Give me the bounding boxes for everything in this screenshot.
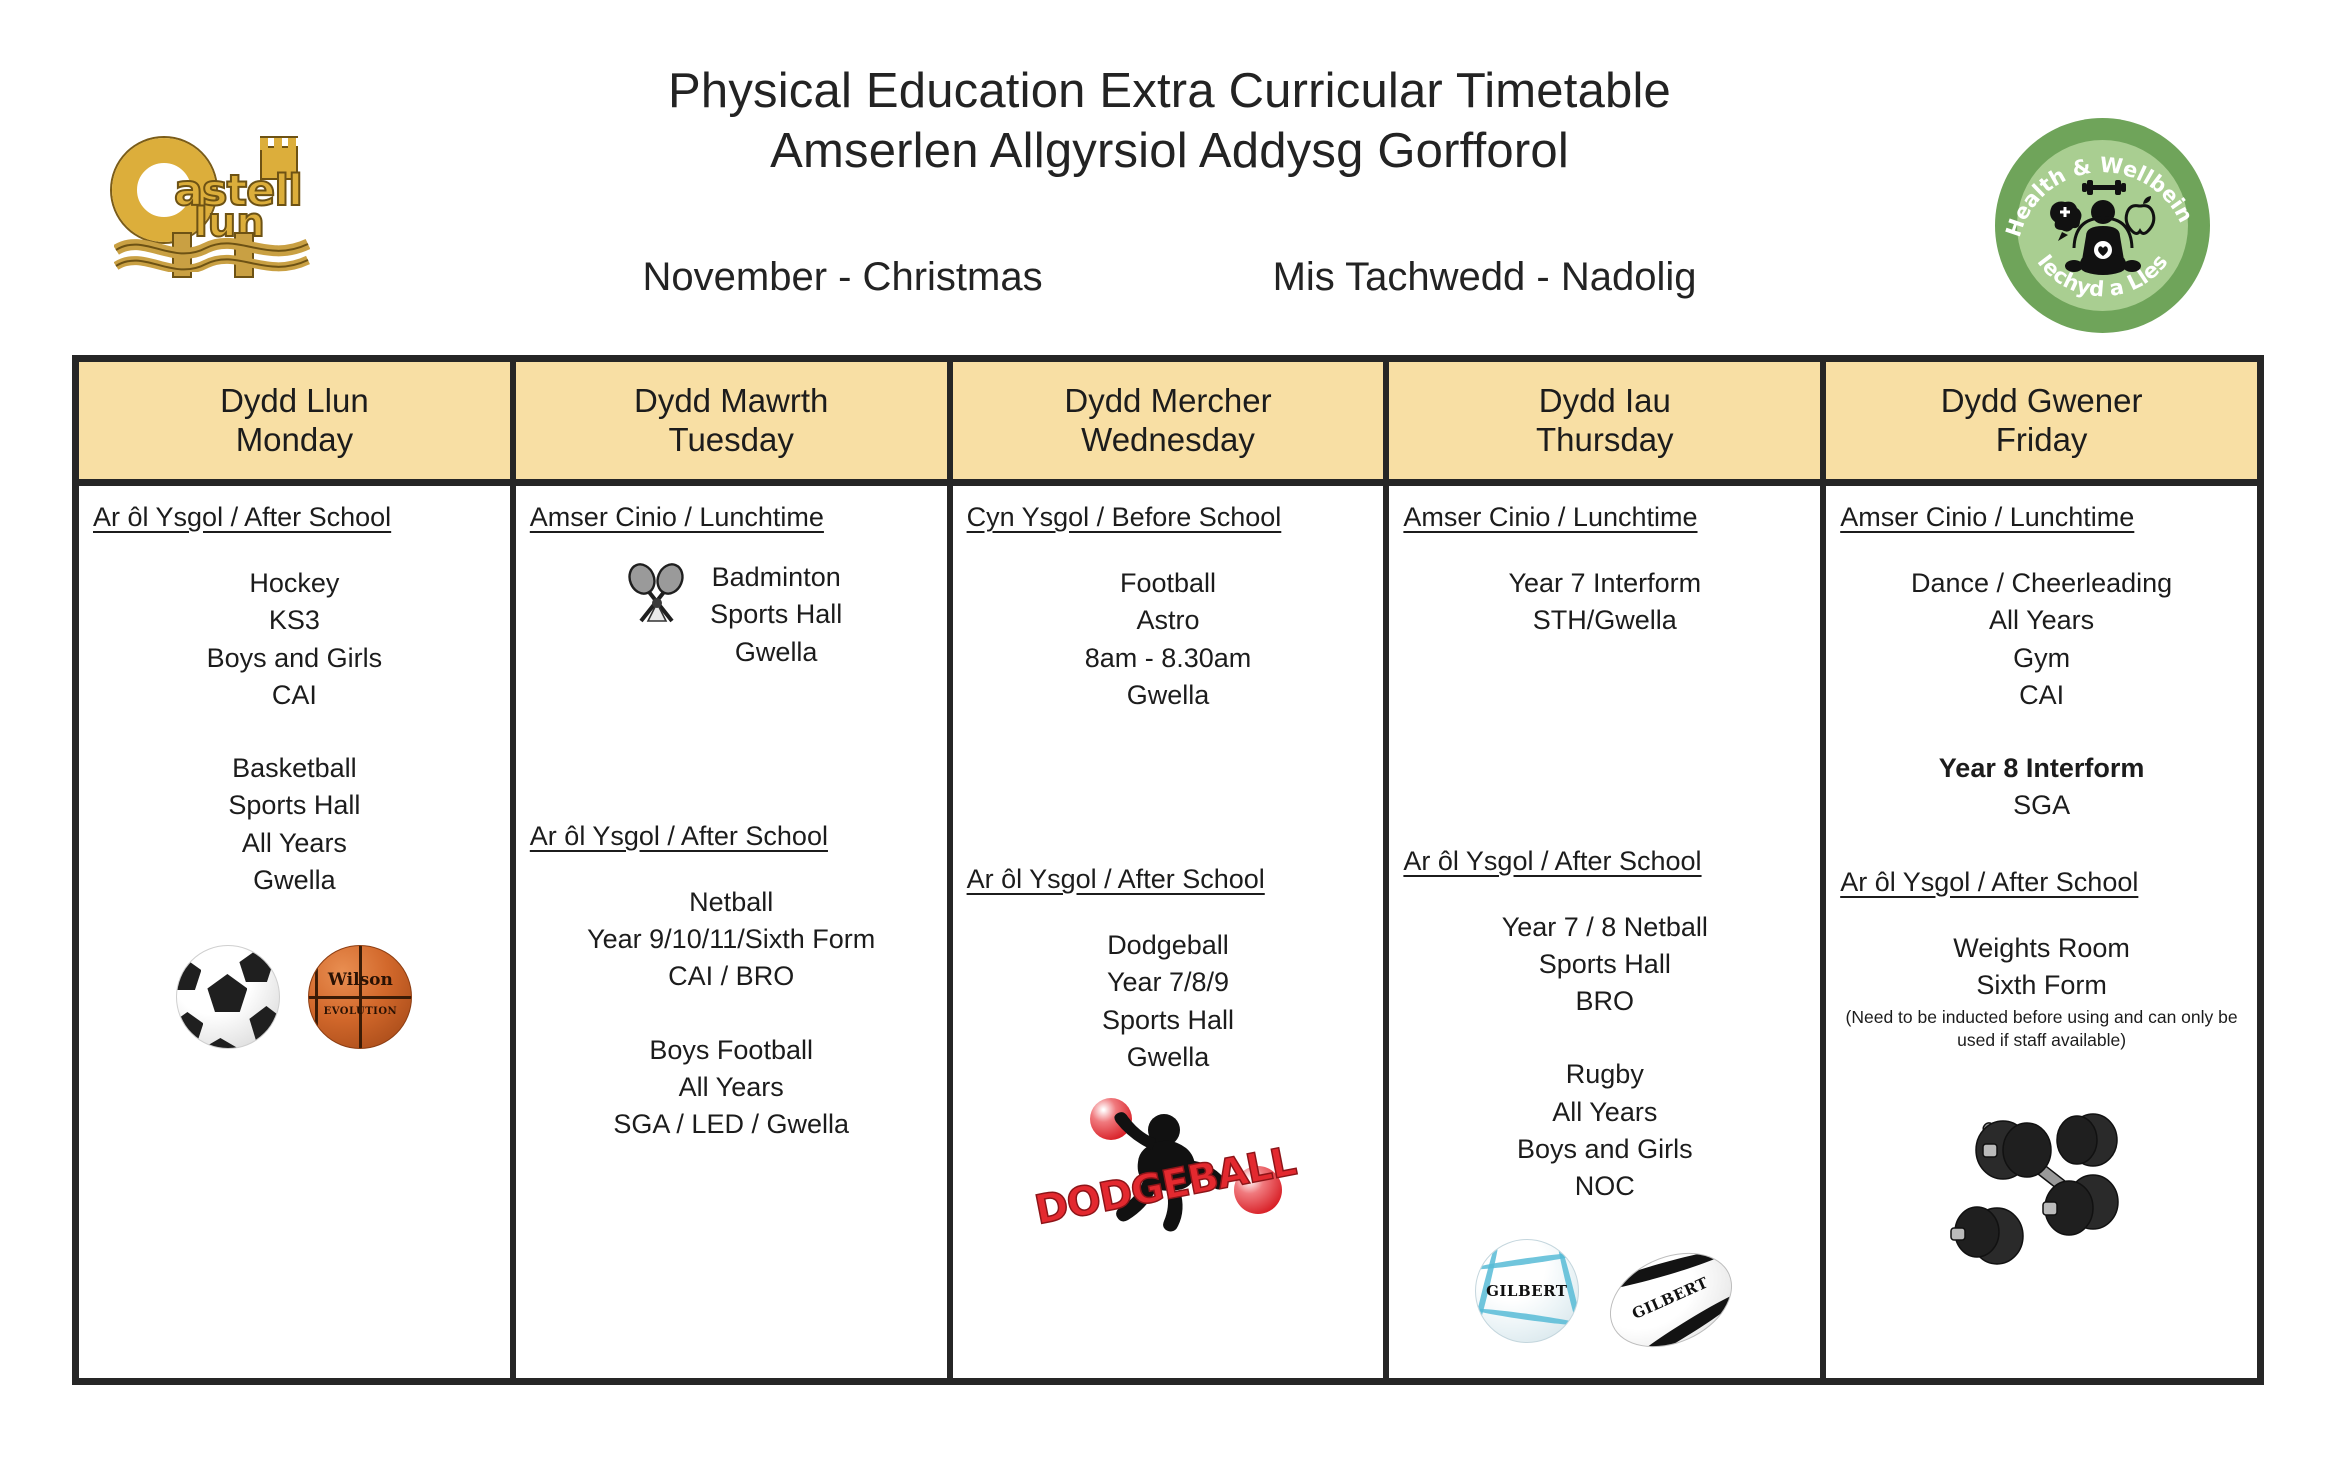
activity-years: All Years [89,825,500,862]
activity-name: Rugby [1399,1056,1810,1093]
activity-venue: Sports Hall [89,787,500,824]
timetable-grid: Dydd Llun Monday Dydd Mawrth Tuesday Dyd… [72,355,2264,1385]
weights-room-note: (Need to be inducted before using and ca… [1836,1006,2247,1052]
meditating-person-icon [2044,176,2162,286]
section-heading-after-school: Ar ôl Ysgol / After School [89,502,500,533]
day-column-friday: Amser Cinio / Lunchtime Dance / Cheerlea… [1826,486,2257,1378]
activity-name: Basketball [89,750,500,787]
day-name-en: Wednesday [1081,421,1255,459]
day-name-cy: Dydd Llun [220,382,369,420]
badminton-rackets-icon [620,559,694,633]
rugby-ball-image: GILBERT [1595,1235,1747,1366]
activity-staff: SGA / LED / Gwella [526,1106,937,1143]
activity-year7-interform: Year 7 Interform STH/Gwella [1399,565,1810,640]
section-heading-lunchtime: Amser Cinio / Lunchtime [526,502,937,533]
day-column-tuesday: Amser Cinio / Lunchtime [516,486,953,1378]
ball-brand-wilson: Wilson [309,970,411,990]
activity-badminton: Badminton Sports Hall Gwella [526,559,937,671]
activity-netball: Netball Year 9/10/11/Sixth Form CAI / BR… [526,884,937,996]
activity-dance-cheerleading: Dance / Cheerleading All Years Gym CAI [1836,565,2247,714]
activity-name: Year 7 / 8 Netball [1399,909,1810,946]
section-heading-before-school: Cyn Ysgol / Before School [963,502,1374,533]
day-name-cy: Dydd Mawrth [634,382,828,420]
ball-brand-gilbert: GILBERT [1476,1282,1578,1300]
page-header: astell lun Physical Education Extra Curr… [0,0,2339,350]
apple-icon [2126,196,2154,234]
activity-name: Football [963,565,1374,602]
day-name-cy: Dydd Gwener [1941,382,2143,420]
activity-football: Football Astro 8am - 8.30am Gwella [963,565,1374,714]
day-name-cy: Dydd Mercher [1064,382,1271,420]
dumbbell-icon [2082,180,2126,195]
day-name-en: Friday [1996,421,2088,459]
activities-row: Ar ôl Ysgol / After School Hockey KS3 Bo… [79,486,2257,1378]
activity-name: Dance / Cheerleading [1836,565,2247,602]
day-header-row: Dydd Llun Monday Dydd Mawrth Tuesday Dyd… [79,362,2257,486]
activity-name: Netball [526,884,937,921]
day-column-thursday: Amser Cinio / Lunchtime Year 7 Interform… [1389,486,1826,1378]
activity-gender: Boys and Girls [89,640,500,677]
activity-years: All Years [1836,602,2247,639]
activity-staff: Gwella [710,634,842,671]
day-name-en: Monday [236,421,353,459]
activity-name: Year 8 Interform [1836,750,2247,787]
activity-years: All Years [526,1069,937,1106]
activity-name: Weights Room [1836,930,2247,967]
activity-staff: Gwella [963,677,1374,714]
activity-venue: Astro [963,602,1374,639]
netball-ball-image: GILBERT [1475,1239,1579,1343]
period-en: November - Christmas [643,255,1043,300]
activity-years: KS3 [89,602,500,639]
thursday-images: GILBERT GILBERT [1399,1239,1810,1343]
activity-staff: BRO [1399,983,1810,1020]
period-cy: Mis Tachwedd - Nadolig [1273,255,1697,300]
activity-years: Year 7/8/9 [963,964,1374,1001]
activity-venue: Sports Hall [1399,946,1810,983]
section-heading-after-school: Ar ôl Ysgol / After School [963,864,1374,895]
monday-images: Wilson EVOLUTION [89,945,500,1049]
activity-years: Year 9/10/11/Sixth Form [526,921,937,958]
activity-staff: NOC [1399,1168,1810,1205]
health-wellbeing-badge: Health & Wellbeing Iechyd a Lles [1995,118,2210,333]
section-heading-after-school: Ar ôl Ysgol / After School [1399,846,1810,877]
activity-name: Year 7 Interform [1399,565,1810,602]
activity-staff: Gwella [963,1039,1374,1076]
activity-basketball: Basketball Sports Hall All Years Gwella [89,750,500,899]
friday-images [1836,1106,2247,1266]
ball-brand-evolution: EVOLUTION [309,1006,411,1017]
day-name-en: Thursday [1536,421,1674,459]
section-heading-lunchtime: Amser Cinio / Lunchtime [1399,502,1810,533]
activity-boys-football: Boys Football All Years SGA / LED / Gwel… [526,1032,937,1144]
activity-staff: STH/Gwella [1399,602,1810,639]
timetable-page: astell lun Physical Education Extra Curr… [0,0,2339,1476]
page-title-en: Physical Education Extra Curricular Time… [0,62,2339,122]
section-heading-lunchtime: Amser Cinio / Lunchtime [1836,502,2247,533]
dumbbells-weights-image [1947,1106,2137,1266]
activity-venue: Sports Hall [963,1002,1374,1039]
football-ball-image [176,945,280,1049]
day-header-thursday: Dydd Iau Thursday [1389,362,1826,479]
activity-hockey: Hockey KS3 Boys and Girls CAI [89,565,500,714]
activity-staff: SGA [1836,787,2247,824]
activity-staff: CAI [1836,677,2247,714]
activity-year8-interform: Year 8 Interform SGA [1836,750,2247,825]
day-header-tuesday: Dydd Mawrth Tuesday [516,362,953,479]
activity-year78-netball: Year 7 / 8 Netball Sports Hall BRO [1399,909,1810,1021]
activity-staff: CAI [89,677,500,714]
activity-name: Dodgeball [963,927,1374,964]
day-header-friday: Dydd Gwener Friday [1826,362,2257,479]
page-title-cy: Amserlen Allgyrsiol Addysg Gorfforol [0,122,2339,182]
day-name-en: Tuesday [669,421,794,459]
title-block: Physical Education Extra Curricular Time… [0,0,2339,182]
activity-years: Sixth Form [1836,967,2247,1004]
activity-name: Badminton [710,559,842,596]
day-header-monday: Dydd Llun Monday [79,362,516,479]
activity-years: All Years [1399,1094,1810,1131]
day-column-monday: Ar ôl Ysgol / After School Hockey KS3 Bo… [79,486,516,1378]
activity-gender: Boys and Girls [1399,1131,1810,1168]
activity-name: Hockey [89,565,500,602]
day-header-wednesday: Dydd Mercher Wednesday [953,362,1390,479]
section-heading-after-school: Ar ôl Ysgol / After School [1836,867,2247,898]
activity-weights-room: Weights Room Sixth Form [1836,930,2247,1005]
basketball-ball-image: Wilson EVOLUTION [308,945,412,1049]
activity-name: Boys Football [526,1032,937,1069]
day-name-cy: Dydd Iau [1539,382,1671,420]
activity-dodgeball: Dodgeball Year 7/8/9 Sports Hall Gwella [963,927,1374,1076]
activity-staff: CAI / BRO [526,958,937,995]
activity-venue: Sports Hall [710,596,842,633]
activity-venue: Gym [1836,640,2247,677]
day-column-wednesday: Cyn Ysgol / Before School Football Astro… [953,486,1390,1378]
activity-rugby: Rugby All Years Boys and Girls NOC [1399,1056,1810,1205]
period-row: November - Christmas Mis Tachwedd - Nado… [0,255,2339,300]
activity-time: 8am - 8.30am [963,640,1374,677]
dodgeball-graphic: DODGEBALL [1038,1092,1298,1242]
activity-staff: Gwella [89,862,500,899]
wednesday-images: DODGEBALL [963,1092,1374,1242]
section-heading-after-school: Ar ôl Ysgol / After School [526,821,937,852]
